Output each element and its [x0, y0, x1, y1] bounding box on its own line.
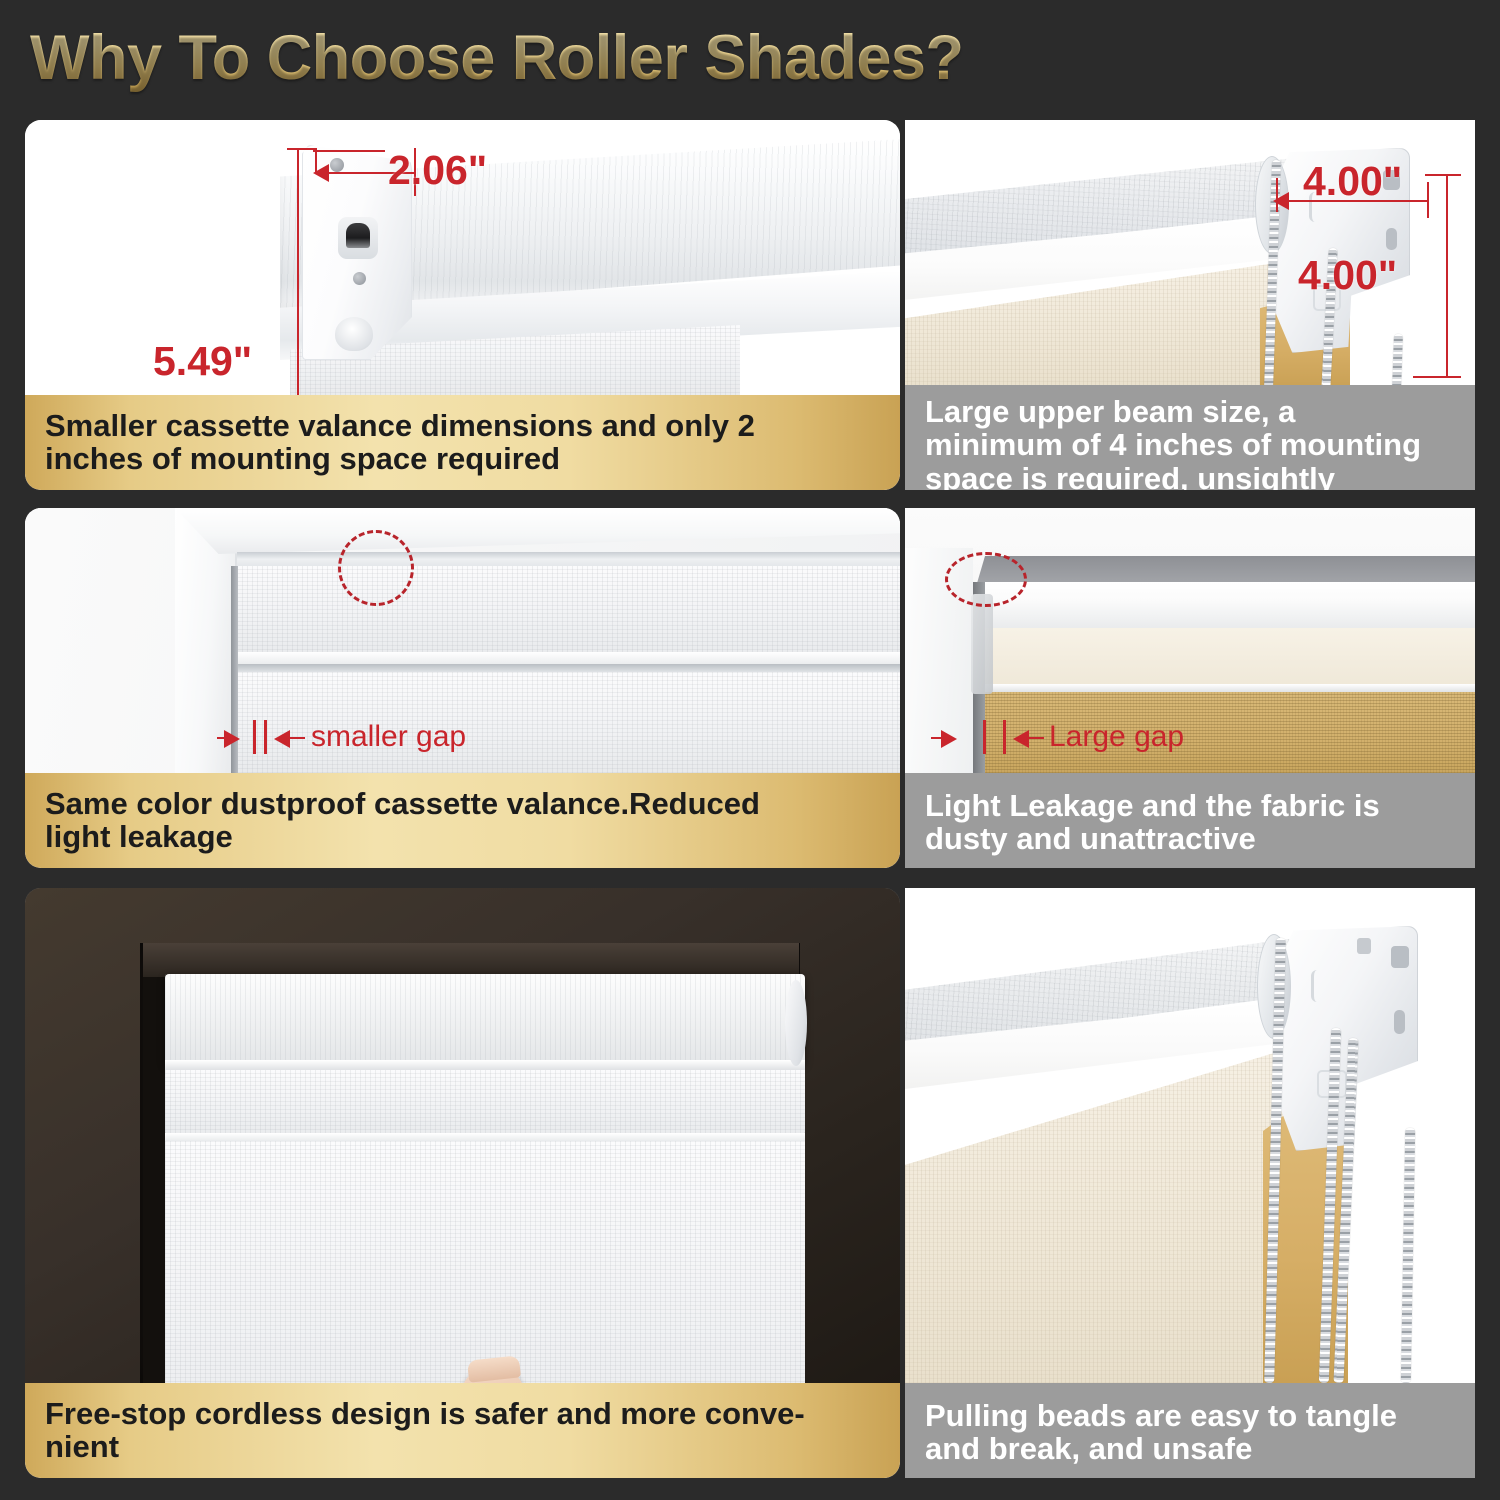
cap-slot-inner [346, 223, 370, 248]
bracket-hole-mid [1386, 228, 1397, 250]
panel-top-left: 2.06" 5.49" Smaller cassette valance dim… [25, 120, 900, 490]
bead-chain-loop [1392, 334, 1403, 385]
dim-side-height-label: 4.00" [1298, 252, 1397, 299]
panel-top-left-photo: 2.06" 5.49" [25, 120, 900, 395]
dim-side-height-line [1446, 174, 1448, 378]
dim-top-width-label: 4.00" [1303, 158, 1402, 205]
bracket-hole-mid [1394, 1010, 1405, 1034]
gap-arrow-right-stem [287, 737, 305, 739]
caption-bottom-left: Free-stop cordless design is safer and m… [25, 1383, 900, 1478]
gap-label: smaller gap [311, 720, 466, 754]
dim-width-top-extension [313, 150, 385, 152]
roller-end-cap [785, 980, 807, 1066]
cap-screw-mid [353, 272, 366, 285]
cap-screw-top [330, 158, 344, 172]
gap-tick-1 [253, 720, 256, 754]
highlight-circle-icon [338, 530, 414, 606]
caption-mid-left: Same color dustproof cassette valance.Re… [25, 773, 900, 868]
page-title: Why To Choose Roller Shades? [30, 22, 963, 94]
valance-front-panel [237, 566, 900, 658]
caption-line-3: space is required, unsightly [925, 461, 1335, 490]
bead-chain-outer [1401, 1128, 1415, 1383]
panel-top-right: 4.00" 4.00" Large upper beam size, a min… [905, 120, 1475, 490]
dim-width-label: 2.06" [388, 147, 487, 194]
cap-bottom-knob [335, 317, 373, 351]
gap-label: Large gap [1049, 720, 1184, 754]
panel-mid-right-photo: Large gap [905, 508, 1475, 773]
cream-band [977, 628, 1475, 688]
dim-top-width-tick-right [1427, 182, 1429, 218]
gap-arrow-left [224, 730, 240, 748]
dim-side-height-tick-top [1425, 174, 1461, 176]
dim-height-label: 5.49" [153, 338, 252, 385]
gap-arrow-left [941, 730, 957, 748]
panel-bottom-left-photo [25, 888, 900, 1383]
gap-arrow-right [1013, 730, 1029, 748]
gap-arrow-right-stem [1026, 737, 1044, 739]
panel-mid-right: Large gap Light Leakage and the fabric i… [905, 508, 1475, 868]
caption-line-2: inches of mounting space required [45, 441, 560, 476]
gap-arrow-left-stem [217, 737, 233, 739]
caption-line-2: and break, and unsafe [925, 1431, 1252, 1466]
caption-line-1: Light Leakage and the fabric is [925, 788, 1380, 823]
dim-height-tick-top [287, 148, 317, 150]
window-head [143, 943, 799, 977]
caption-line-2: dusty and unattractive [925, 821, 1256, 856]
dim-height-line [297, 148, 299, 395]
gap-tick-1 [983, 720, 986, 754]
caption-mid-right: Light Leakage and the fabric is dusty an… [905, 773, 1475, 868]
upper-fabric-band [165, 1070, 805, 1138]
panel-bottom-left: Free-stop cordless design is safer and m… [25, 888, 900, 1478]
panel-mid-left-photo: smaller gap [25, 508, 900, 773]
panel-mid-left: smaller gap Same color dustproof cassett… [25, 508, 900, 868]
caption-line-1: Smaller cassette valance dimensions and … [45, 408, 755, 443]
dim-side-height-tick-bottom [1413, 376, 1461, 378]
side-bracket-hardware [971, 594, 993, 694]
cassette-valance-texture [165, 974, 805, 1064]
caption-line-2: light leakage [45, 819, 233, 854]
caption-line-1: Large upper beam size, a [925, 394, 1295, 429]
roller-tube-white [977, 582, 1475, 634]
bracket-hole-upper [1391, 946, 1409, 968]
gap-arrow-right [274, 730, 290, 748]
cream-shade-fabric [905, 1046, 1297, 1383]
main-shade-fabric [165, 1141, 805, 1383]
caption-line-2: nient [45, 1429, 119, 1464]
highlight-circle-icon [945, 552, 1027, 607]
gap-arrow-left-stem [931, 737, 947, 739]
caption-bottom-right: Pulling beads are easy to tangle and bre… [905, 1383, 1475, 1478]
dim-top-width-tick-left [1276, 178, 1278, 212]
caption-line-1: Free-stop cordless design is safer and m… [45, 1396, 805, 1431]
caption-top-right: Large upper beam size, a minimum of 4 in… [905, 385, 1475, 490]
caption-line-1: Same color dustproof cassette valance.Re… [45, 786, 760, 821]
caption-line-1: Pulling beads are easy to tangle [925, 1398, 1397, 1433]
panel-top-right-photo: 4.00" 4.00" [905, 120, 1475, 385]
panel-bottom-right-photo [905, 888, 1475, 1383]
caption-top-left: Smaller cassette valance dimensions and … [25, 395, 900, 490]
bracket-emboss-upper [1311, 970, 1337, 1002]
gap-tick-2 [1003, 720, 1006, 754]
caption-line-2: minimum of 4 inches of mounting [925, 427, 1421, 462]
gap-tick-2 [264, 720, 267, 754]
panel-bottom-right: Pulling beads are easy to tangle and bre… [905, 888, 1475, 1478]
infographic-root: Why To Choose Roller Shades? 2.06" [0, 0, 1500, 1500]
bracket-slot [1357, 938, 1371, 954]
